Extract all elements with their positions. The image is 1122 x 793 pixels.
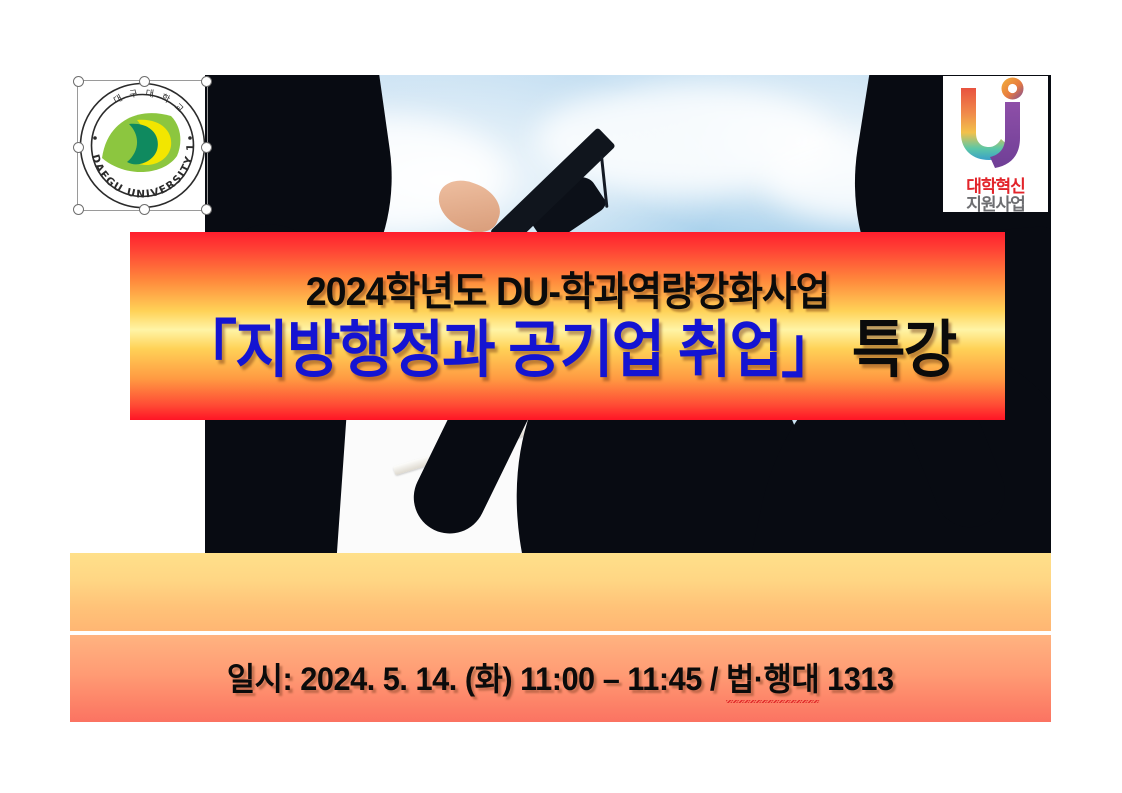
footer-day: (화) [465, 661, 512, 697]
footer-band: 일시: 2024. 5. 14. (화) 11:00 – 11:45 / 법·행… [70, 635, 1051, 722]
poster-canvas: 2024학년도 DU-학과역량강화사업 「지방행정과 공기업 취업」 특강 대 … [0, 0, 1122, 793]
resize-handle-se[interactable] [201, 204, 212, 215]
poster-title-suffix: 특강 [838, 316, 956, 385]
resize-handle-w[interactable] [73, 142, 84, 153]
footer-location: 법·행대 [726, 654, 819, 703]
footer-room: 1313 [827, 661, 893, 697]
poster-title-line1: 2024학년도 DU-학과역량강화사업 [306, 271, 830, 314]
resize-handle-ne[interactable] [201, 76, 212, 87]
footer-label: 일시: [227, 661, 292, 697]
innovation-logo-line1: 대학혁신 [943, 178, 1048, 196]
footer-date: 2024. 5. 14. [301, 661, 458, 697]
yellow-divider-band [70, 553, 1051, 631]
university-innovation-logo-icon[interactable]: 대학혁신 지원사업 [943, 76, 1048, 212]
title-banner[interactable]: 2024학년도 DU-학과역량강화사업 「지방행정과 공기업 취업」 특강 [130, 232, 1005, 420]
poster-title-line2: 「지방행정과 공기업 취업」 특강 [179, 317, 956, 385]
resize-handle-nw[interactable] [73, 76, 84, 87]
footer-time-end: 11:45 [628, 661, 702, 697]
selection-frame [77, 80, 208, 211]
resize-handle-n[interactable] [139, 76, 150, 87]
footer-divider: / [710, 661, 718, 697]
resize-handle-s[interactable] [139, 204, 150, 215]
poster-title-highlight: 「지방행정과 공기업 취업」 [179, 316, 838, 385]
resize-handle-e[interactable] [201, 142, 212, 153]
event-datetime-location: 일시: 2024. 5. 14. (화) 11:00 – 11:45 / 법·행… [227, 654, 894, 703]
footer-time-separator: – [603, 661, 620, 697]
footer-time-start: 11:00 [520, 661, 594, 697]
resize-handle-sw[interactable] [73, 204, 84, 215]
innovation-logo-line2: 지원사업 [943, 196, 1048, 214]
